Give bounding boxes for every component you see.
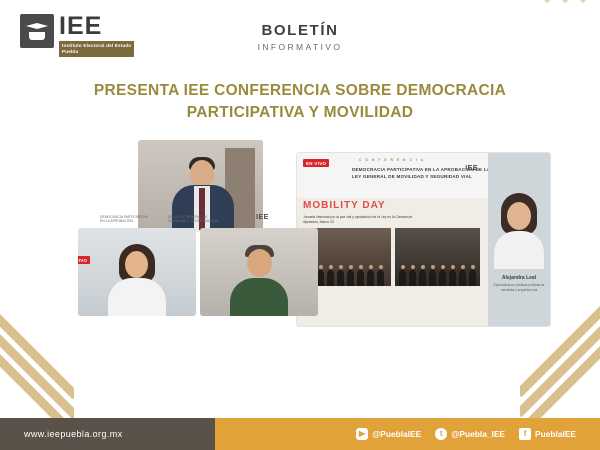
broadcast-conference-label: C O N F E R E N C I A xyxy=(359,158,425,162)
social-twitter[interactable]: t @Puebla_IEE xyxy=(435,428,505,440)
tile-right-body xyxy=(230,278,288,316)
tile-top-face xyxy=(190,160,214,187)
participant-tile-left: EN VIVO xyxy=(78,228,196,316)
headline-line-2: PARTICIPATIVA Y MOVILIDAD xyxy=(60,102,540,124)
participant-tile-right xyxy=(200,228,318,316)
headline-line-1: PRESENTA IEE CONFERENCIA SOBRE DEMOCRACI… xyxy=(60,80,540,102)
bulletin-subkicker: INFORMATIVO xyxy=(0,42,600,52)
collage-caption-line-2: DE LA LEY GENERAL DE MOVILIDAD Y SEGURID… xyxy=(168,215,224,224)
speaker-role: Especialista en políticas públicas de mo… xyxy=(492,283,546,292)
tile-right-face xyxy=(247,249,272,277)
speaker-face xyxy=(507,202,531,230)
twitter-icon: t xyxy=(435,428,447,440)
stage-banner-text: MOBILITY DAY xyxy=(303,200,482,214)
speaker-body xyxy=(494,231,544,269)
decorative-corner-bottom-left xyxy=(0,302,74,422)
broadcast-live-badge: EN VIVO xyxy=(303,159,329,167)
social-twitter-handle: @Puebla_IEE xyxy=(451,429,505,439)
broadcast-screenshot: EN VIVO C O N F E R E N C I A DEMOCRACIA… xyxy=(296,152,551,327)
collage-live-badge: EN VIVO xyxy=(78,256,90,264)
broadcast-speaker-panel: Alejandra Leal Especialista en políticas… xyxy=(488,153,550,326)
footer-website-block: www.ieepuebla.org.mx xyxy=(0,418,215,450)
social-facebook[interactable]: f PueblaIEE xyxy=(519,428,576,440)
youtube-icon: ▶ xyxy=(356,428,368,440)
collage-iee-logo: IEE xyxy=(256,214,269,221)
tile-left-face xyxy=(125,251,148,278)
footer-website[interactable]: www.ieepuebla.org.mx xyxy=(24,429,123,439)
speaker-name: Alejandra Leal xyxy=(488,275,550,281)
footer-social-block: ▶ @PueblaIEE t @Puebla_IEE f PueblaIEE xyxy=(215,418,600,450)
broadcast-stage: MOBILITY DAY Jornada Nacional por la paz… xyxy=(297,198,488,326)
page-title: PRESENTA IEE CONFERENCIA SOBRE DEMOCRACI… xyxy=(60,80,540,124)
social-facebook-handle: PueblaIEE xyxy=(535,429,576,439)
bulletin-page: IEE Instituto Electoral del Estado Puebl… xyxy=(0,0,600,450)
bulletin-header: BOLETÍN INFORMATIVO xyxy=(0,22,600,52)
footer-bar: www.ieepuebla.org.mx ▶ @PueblaIEE t @Pue… xyxy=(0,418,600,450)
facebook-icon: f xyxy=(519,428,531,440)
social-youtube[interactable]: ▶ @PueblaIEE xyxy=(356,428,421,440)
stage-caption: Jornada Nacional por la paz vial y aprob… xyxy=(303,215,413,224)
collage-caption-line-1: DEMOCRACIA PARTICIPATIVA EN LA APROBACIÓ… xyxy=(100,215,152,224)
crowd-right xyxy=(395,260,480,286)
tile-left-body xyxy=(108,278,166,316)
broadcast-iee-logo: IEE xyxy=(465,165,478,172)
bulletin-kicker: BOLETÍN xyxy=(0,22,600,39)
stage-photo-right xyxy=(395,228,480,286)
social-youtube-handle: @PueblaIEE xyxy=(372,429,421,439)
